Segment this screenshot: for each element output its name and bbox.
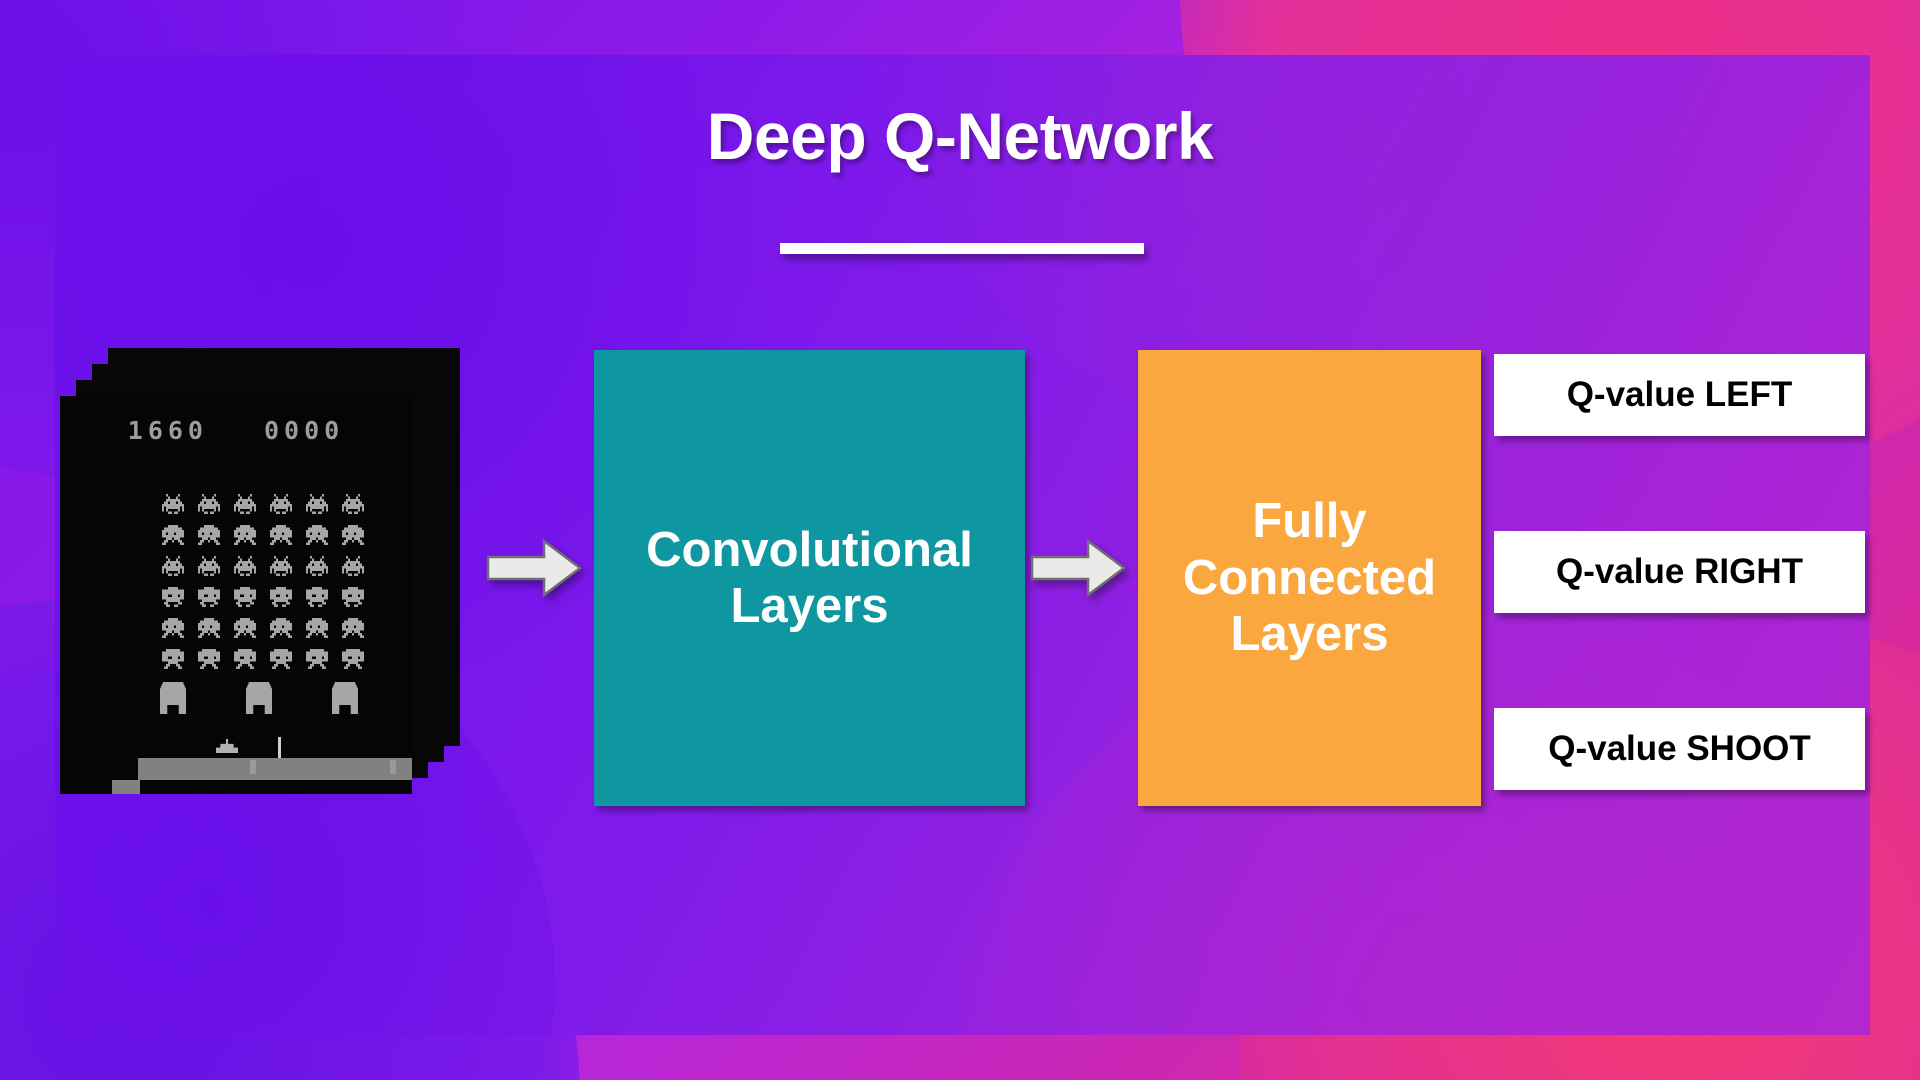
invader-sprite: [270, 494, 292, 514]
score-right: 0000: [264, 418, 344, 443]
shield-row: [160, 682, 358, 714]
score-left: 1660: [128, 418, 208, 443]
atari-game-screen: 1660 0000: [60, 396, 412, 794]
invader-sprite: [342, 618, 364, 638]
invader-sprite: [270, 525, 292, 545]
invader-sprite: [342, 525, 364, 545]
shield-bunker: [332, 682, 358, 714]
invader-sprite: [198, 556, 220, 576]
conv-label-line-2: Layers: [646, 578, 973, 634]
ground-bar: [138, 758, 412, 780]
q-value-right-label: Q-value RIGHT: [1556, 552, 1803, 592]
invader-sprite: [198, 525, 220, 545]
invader-sprite: [162, 525, 184, 545]
invader-sprite: [234, 556, 256, 576]
invader-sprite: [306, 556, 328, 576]
invader-sprite: [234, 618, 256, 638]
fully-connected-layers-block[interactable]: Fully Connected Layers: [1138, 350, 1481, 806]
input-frame-stack: 1660 0000: [60, 348, 480, 808]
invader-sprite: [198, 494, 220, 514]
invader-sprite: [198, 649, 220, 669]
q-value-right-output[interactable]: Q-value RIGHT: [1494, 531, 1865, 613]
invader-sprite: [234, 494, 256, 514]
invader-sprite: [270, 556, 292, 576]
life-marker: [390, 760, 396, 774]
invader-sprite: [342, 556, 364, 576]
invader-sprite: [306, 618, 328, 638]
invader-sprite: [342, 587, 364, 607]
invader-sprite: [162, 556, 184, 576]
invader-sprite: [342, 649, 364, 669]
invader-sprite: [162, 618, 184, 638]
invader-sprite: [270, 618, 292, 638]
score-row: 1660 0000: [60, 418, 412, 443]
invader-sprite: [306, 494, 328, 514]
frame-step-1: [112, 780, 140, 794]
page-title: Deep Q-Network: [0, 98, 1920, 174]
invader-sprite: [198, 618, 220, 638]
invader-sprite: [342, 494, 364, 514]
invader-sprite: [162, 494, 184, 514]
slide-canvas: Deep Q-Network 1660 0000: [0, 0, 1920, 1080]
player-bullet: [278, 737, 281, 759]
fc-label-line-2: Connected: [1183, 550, 1436, 606]
fc-label-line-3: Layers: [1183, 606, 1436, 662]
invader-sprite: [234, 649, 256, 669]
invader-sprite: [306, 525, 328, 545]
arrow-right-icon: [486, 537, 582, 599]
invader-sprite: [306, 587, 328, 607]
invader-sprite: [162, 587, 184, 607]
conv-layers-block[interactable]: Convolutional Layers: [594, 350, 1025, 806]
invader-sprite: [234, 587, 256, 607]
invader-sprite: [306, 649, 328, 669]
q-value-shoot-label: Q-value SHOOT: [1548, 729, 1811, 769]
life-marker: [250, 760, 256, 774]
conv-label-line-1: Convolutional: [646, 522, 973, 578]
q-value-shoot-output[interactable]: Q-value SHOOT: [1494, 708, 1865, 790]
q-value-left-output[interactable]: Q-value LEFT: [1494, 354, 1865, 436]
player-ship: [216, 739, 238, 753]
invader-sprite: [270, 649, 292, 669]
q-value-left-label: Q-value LEFT: [1567, 375, 1793, 415]
title-underline-rule: [780, 243, 1144, 254]
arrow-right-icon: [1030, 537, 1126, 599]
invader-sprite: [162, 649, 184, 669]
invader-grid: [158, 488, 368, 674]
invader-sprite: [198, 587, 220, 607]
shield-bunker: [160, 682, 186, 714]
invader-sprite: [234, 525, 256, 545]
shield-bunker: [246, 682, 272, 714]
invader-sprite: [270, 587, 292, 607]
fc-label-line-1: Fully: [1183, 493, 1436, 549]
